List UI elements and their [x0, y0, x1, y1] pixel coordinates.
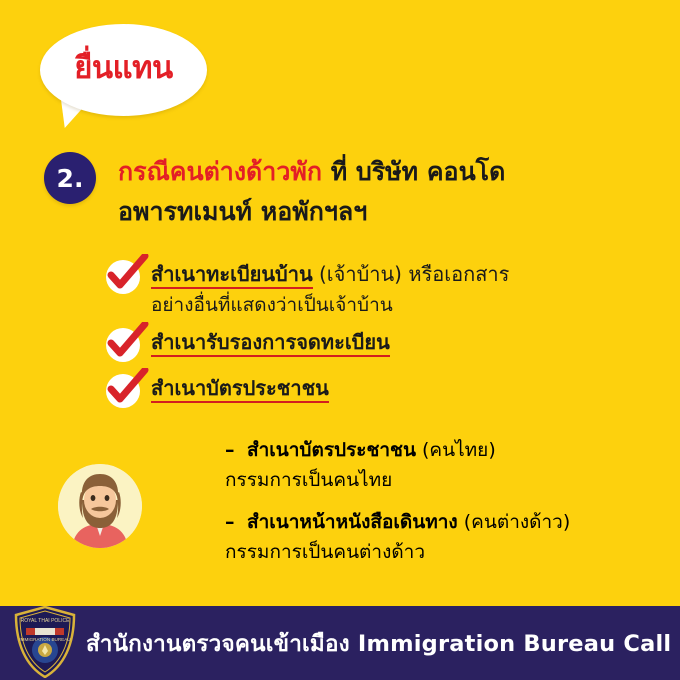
- underlined-term: สำเนาบัตรประชาชน: [151, 376, 329, 403]
- list-item: สำเนาบัตรประชาชน: [106, 372, 646, 408]
- sublist-term: สำเนาหน้าหนังสือเดินทาง: [247, 511, 458, 533]
- sublist-item: –สำเนาบัตรประชาชน (คนไทย) กรรมการเป็นคนไ…: [225, 435, 655, 495]
- list-item: สำเนาทะเบียนบ้าน (เจ้าบ้าน) หรือเอกสาร อ…: [106, 258, 646, 320]
- check-icon: [106, 374, 140, 408]
- list-item-trailing: (เจ้าบ้าน) หรือเอกสาร: [313, 262, 510, 286]
- sublist-item: –สำเนาหน้าหนังสือเดินทาง (คนต่างด้าว) กร…: [225, 507, 655, 567]
- poster-canvas: ยื่นแทน 2. กรณีคนต่างด้าวพัก ที่ บริษัท …: [0, 0, 680, 680]
- list-item-line-1: สำเนาทะเบียนบ้าน (เจ้าบ้าน) หรือเอกสาร: [151, 259, 646, 290]
- sublist-term: สำเนาบัตรประชาชน: [247, 439, 416, 461]
- document-sublist: –สำเนาบัตรประชาชน (คนไทย) กรรมการเป็นคนไ…: [225, 435, 655, 579]
- royal-thai-police-immigration-bureau-badge: ROYAL THAI POLICE IMMIGRATION BUREAU: [14, 606, 76, 678]
- sublist-paren: (คนต่างด้าว): [458, 511, 571, 533]
- underlined-term: สำเนาทะเบียนบ้าน: [151, 262, 313, 289]
- document-checklist: สำเนาทะเบียนบ้าน (เจ้าบ้าน) หรือเอกสาร อ…: [106, 258, 646, 410]
- svg-text:ROYAL THAI POLICE: ROYAL THAI POLICE: [21, 618, 70, 624]
- page-title: กรณีคนต่างด้าวพัก ที่ บริษัท คอนโด อพารท…: [118, 152, 658, 232]
- bearded-man-avatar: [58, 464, 142, 548]
- check-icon: [106, 260, 140, 294]
- list-item-line-2: อย่างอื่นที่แสดงว่าเป็นเจ้าบ้าน: [151, 290, 646, 320]
- sublist-dash: –: [225, 435, 247, 465]
- speech-bubble-text: ยื่นแทน: [40, 24, 207, 116]
- page-title-highlight: กรณีคนต่างด้าวพัก: [118, 157, 322, 186]
- svg-text:IMMIGRATION BUREAU: IMMIGRATION BUREAU: [19, 637, 70, 642]
- page-title-line2: อพารทเมนท์ หอพักฯลฯ: [118, 197, 367, 226]
- check-icon: [106, 328, 140, 362]
- footer-bar: ROYAL THAI POLICE IMMIGRATION BUREAU สำน…: [0, 606, 680, 680]
- sublist-dash: –: [225, 507, 247, 537]
- list-item: สำเนารับรองการจดทะเบียน: [106, 326, 646, 362]
- speech-bubble: ยื่นแทน: [40, 24, 207, 116]
- sublist-paren: (คนไทย): [416, 439, 496, 461]
- sublist-subtext: กรรมการเป็นคนต่างด้าว: [225, 537, 655, 567]
- step-number-badge: 2.: [44, 152, 96, 204]
- sublist-subtext: กรรมการเป็นคนไทย: [225, 465, 655, 495]
- footer-text: สำนักงานตรวจคนเข้าเมือง Immigration Bure…: [86, 625, 680, 661]
- underlined-term: สำเนารับรองการจดทะเบียน: [151, 330, 390, 357]
- page-title-rest: ที่ บริษัท คอนโด: [322, 157, 505, 186]
- list-item-line-1: สำเนาบัตรประชาชน: [151, 373, 646, 404]
- list-item-line-1: สำเนารับรองการจดทะเบียน: [151, 327, 646, 358]
